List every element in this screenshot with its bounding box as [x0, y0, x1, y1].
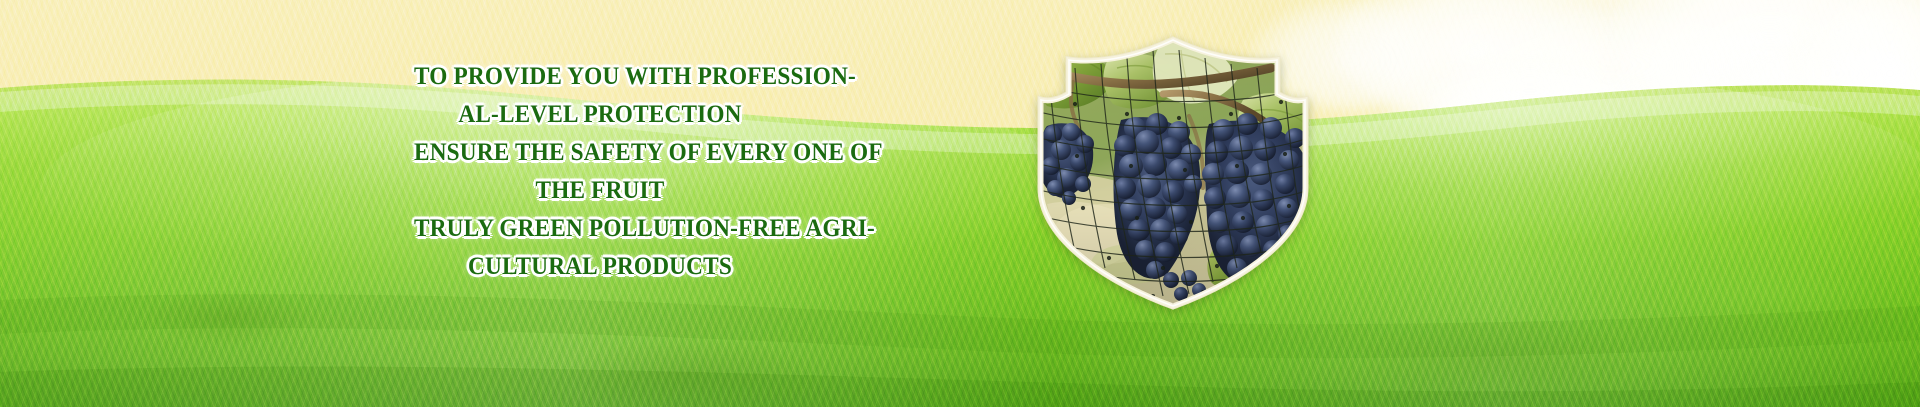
grass-hill-shape	[0, 0, 1920, 407]
slogan-line-6: CULTURAL PRODUCTS	[414, 248, 786, 286]
slogan-line-3: ENSURE THE SAFETY OF EVERY ONE OF	[414, 134, 786, 172]
slogan-text-block: TO PROVIDE YOU WITH PROFESSION- AL-LEVEL…	[400, 58, 800, 286]
slogan-line-1: TO PROVIDE YOU WITH PROFESSION-	[414, 58, 786, 96]
shield-emblem[interactable]	[1013, 28, 1333, 313]
shield-icon	[1013, 28, 1333, 313]
slogan-line-5: TRULY GREEN POLLUTION-FREE AGRI-	[414, 210, 786, 248]
slogan-line-2: AL-LEVEL PROTECTION	[414, 96, 786, 134]
grass-hill	[0, 0, 1920, 407]
banner-root: TO PROVIDE YOU WITH PROFESSION- AL-LEVEL…	[0, 0, 1920, 407]
slogan-line-4: THE FRUIT	[414, 172, 786, 210]
